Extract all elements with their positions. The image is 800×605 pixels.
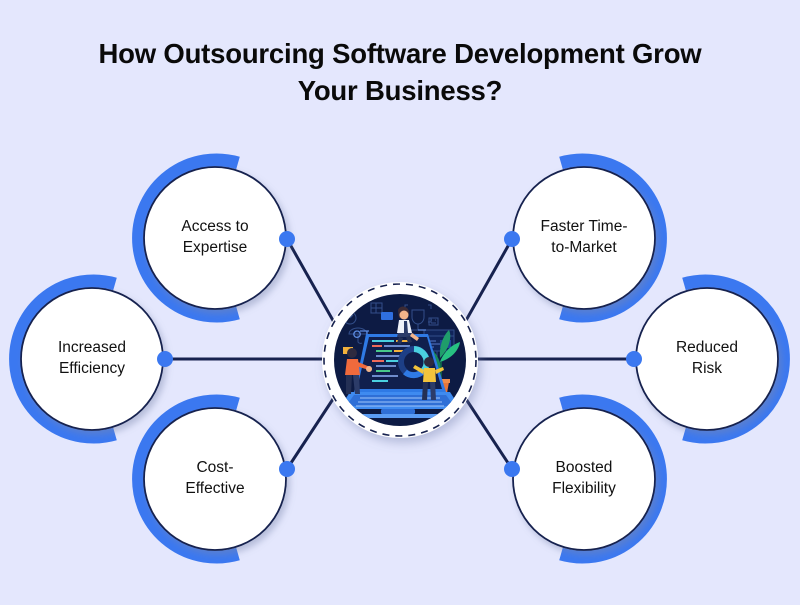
node-circle-boosted-flexibility — [513, 408, 655, 550]
node-faster-time-to-market[interactable] — [513, 160, 660, 316]
benefits-diagram — [0, 0, 800, 605]
connector-access-to-expertise — [287, 239, 335, 324]
node-boosted-flexibility[interactable] — [513, 401, 660, 557]
node-cost-effective[interactable] — [139, 401, 286, 557]
connector-cost-effective — [287, 396, 335, 469]
node-access-to-expertise[interactable] — [139, 160, 286, 316]
infographic-canvas: How Outsourcing Software Development Gro… — [0, 0, 800, 605]
node-circle-cost-effective — [144, 408, 286, 550]
node-circle-increased-efficiency — [21, 288, 163, 430]
connector-dot-access-to-expertise — [279, 231, 295, 247]
node-reduced-risk[interactable] — [636, 281, 783, 437]
center-illustration[interactable] — [322, 282, 478, 438]
node-circle-faster-time-to-market — [513, 167, 655, 309]
connector-boosted-flexibility — [464, 396, 512, 469]
node-increased-efficiency[interactable] — [16, 281, 163, 437]
connector-dot-increased-efficiency — [157, 351, 173, 367]
node-circle-access-to-expertise — [144, 167, 286, 309]
connector-dot-faster-time-to-market — [504, 231, 520, 247]
connector-faster-time-to-market — [464, 239, 512, 324]
connector-dot-boosted-flexibility — [504, 461, 520, 477]
connector-dot-cost-effective — [279, 461, 295, 477]
node-circle-reduced-risk — [636, 288, 778, 430]
blue-tag-icon — [381, 312, 393, 320]
connector-dot-reduced-risk — [626, 351, 642, 367]
